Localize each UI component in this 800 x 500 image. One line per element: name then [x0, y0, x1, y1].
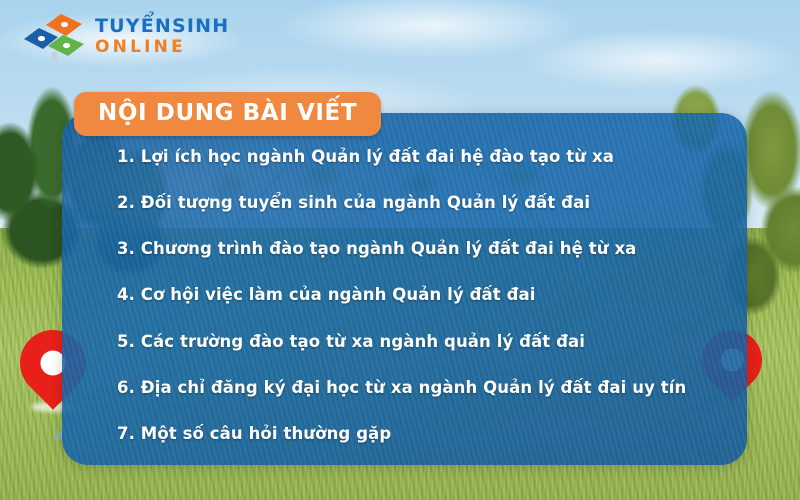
content-panel: 1. Lợi ích học ngành Quản lý đất đai hệ … — [62, 113, 747, 465]
list-item[interactable]: 3. Chương trình đào tạo ngành Quản lý đấ… — [117, 239, 747, 260]
list-item[interactable]: 2. Đối tượng tuyển sinh của ngành Quản l… — [117, 193, 747, 214]
list-item[interactable]: 6. Địa chỉ đăng ký đại học từ xa ngành Q… — [117, 378, 747, 399]
list-item[interactable]: 4. Cơ hội việc làm của ngành Quản lý đất… — [117, 285, 747, 306]
list-item[interactable]: 7. Một số câu hỏi thường gặp — [117, 424, 747, 445]
page-title: NỘI DUNG BÀI VIẾT — [74, 92, 381, 136]
table-of-contents-list: 1. Lợi ích học ngành Quản lý đất đai hệ … — [62, 113, 747, 444]
list-item[interactable]: 5. Các trường đào tạo từ xa ngành quản l… — [117, 332, 747, 353]
brand-logo-text: TUYỂNSINH ONLINE — [95, 17, 229, 56]
brand-logo[interactable]: TUYỂNSINH ONLINE — [22, 12, 229, 60]
list-item[interactable]: 1. Lợi ích học ngành Quản lý đất đai hệ … — [117, 147, 747, 168]
brand-name-secondary: ONLINE — [95, 39, 229, 56]
brand-name-primary: TUYỂNSINH — [95, 17, 229, 36]
graduation-cap-diamonds-icon — [22, 12, 86, 60]
